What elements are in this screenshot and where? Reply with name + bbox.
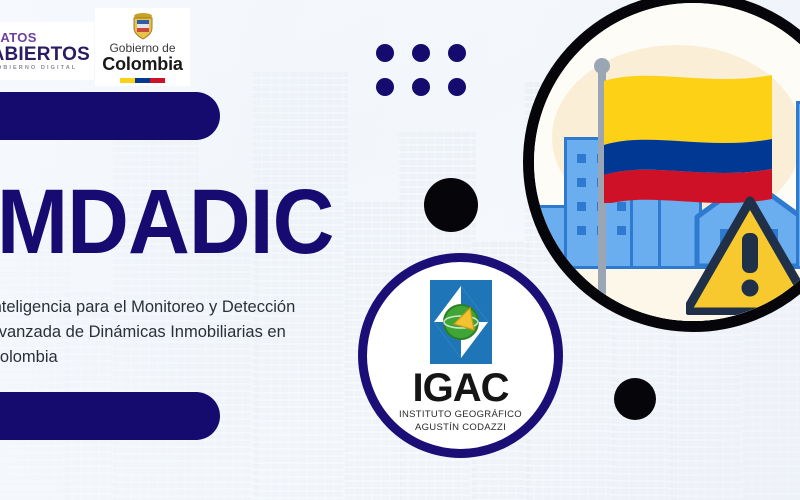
dot-grid-decoration [376,44,466,96]
igac-subtitle-line2: AGUSTÍN CODAZZI [415,422,506,434]
grid-dot [376,44,394,62]
promo-banner: DATOS ABIERTOS GOBIERNO DIGITAL Gobierno… [0,0,800,500]
warning-triangle-icon [686,195,800,315]
black-circle-mid [424,178,478,232]
grid-dot [376,78,394,96]
grid-dot [448,44,466,62]
black-circle-low [614,378,656,420]
bottom-navy-bar [0,392,220,440]
colombia-flag-icon [604,73,774,203]
logo-datos-abiertos: DATOS ABIERTOS GOBIERNO DIGITAL [0,22,94,80]
datos-line2: ABIERTOS [0,45,90,64]
logo-igac: IGAC INSTITUTO GEOGRÁFICO AGUSTÍN CODAZZ… [358,253,563,458]
grid-dot [412,44,430,62]
page-subtitle: Inteligencia para el Monitoreo y Detecci… [0,295,338,370]
flagpole-finial-icon [594,58,610,74]
colombia-flag-strip-icon [120,78,166,83]
igac-wordmark: IGAC [413,368,509,408]
colombia-coat-of-arms-icon [130,12,156,40]
igac-subtitle-line1: INSTITUTO GEOGRÁFICO [399,409,522,421]
page-title: IMDADIC [0,176,333,268]
top-navy-bar [0,92,220,140]
grid-dot [448,78,466,96]
igac-compass-emblem-icon [428,278,494,366]
logo-gobierno-colombia: Gobierno de Colombia [95,8,190,86]
illustration-circle [523,0,800,332]
gobierno-line1: Gobierno de [109,42,175,55]
gobierno-line2: Colombia [102,55,182,74]
datos-line3: GOBIERNO DIGITAL [0,66,90,72]
datos-line1: DATOS [0,31,90,44]
grid-dot [412,78,430,96]
illustration-canvas [534,3,800,321]
